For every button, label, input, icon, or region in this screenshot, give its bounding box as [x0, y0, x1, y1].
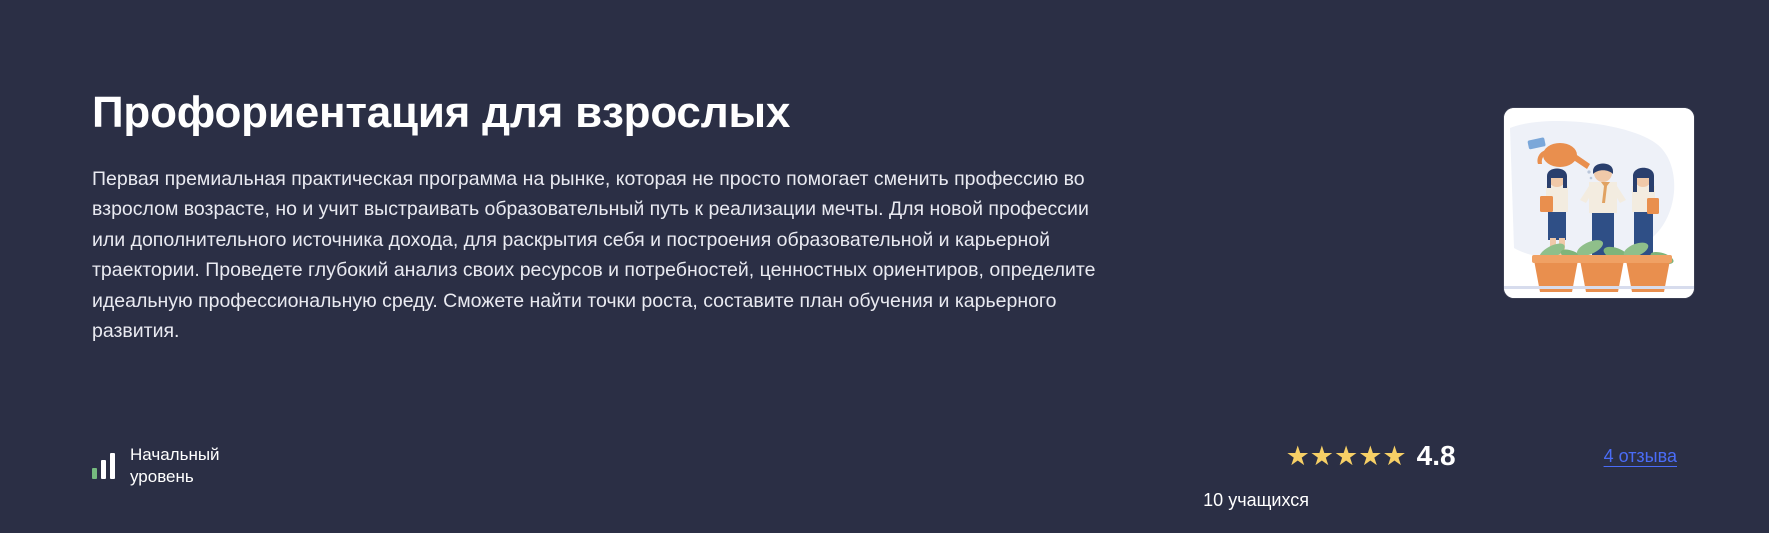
course-level-label: Начальный уровень [130, 444, 260, 488]
course-info-column: Профориентация для взрослых Первая преми… [92, 0, 1122, 533]
students-count: 10 учащихся [1203, 490, 1309, 511]
reviews-link[interactable]: 4 отзыва [1604, 446, 1677, 467]
rating-value: 4.8 [1417, 442, 1456, 470]
bar-level-icon [92, 453, 119, 479]
star-icon: ★★★★★ [1286, 443, 1407, 470]
course-illustration[interactable] [1504, 108, 1694, 298]
rating-row: ★★★★★ 4.8 4 отзыва [1077, 442, 1677, 470]
page-title: Профориентация для взрослых [92, 0, 1122, 139]
course-description: Первая премиальная практическая программ… [92, 139, 1112, 347]
course-hero-banner: Профориентация для взрослых Первая преми… [0, 0, 1769, 533]
course-level: Начальный уровень [92, 444, 260, 488]
rating-group: ★★★★★ 4.8 [1286, 442, 1456, 470]
